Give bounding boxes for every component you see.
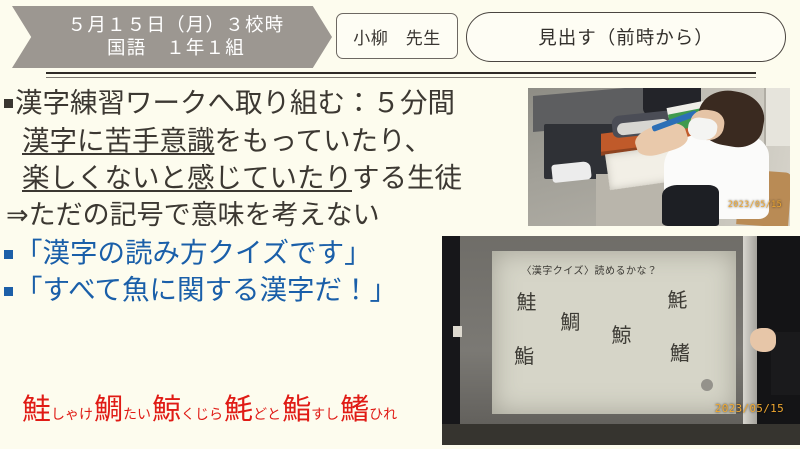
teacher-name-label: 小柳 先生	[353, 24, 441, 49]
fish-kanji-char: 魹	[224, 396, 253, 425]
fish-kanji-reading: しゃけ	[51, 407, 94, 421]
square-bullet-icon	[4, 250, 13, 259]
body-line-1: 漢字練習ワークへ取り組む：５分間	[4, 84, 449, 122]
fish-kanji-reading: すし	[311, 407, 340, 421]
fish-kanji-char: 鮭	[22, 396, 51, 425]
fish-kanji-item: 鰭 ひれ	[340, 396, 398, 425]
fish-kanji-reading: たい	[123, 407, 152, 421]
projected-kanji: 鰭	[670, 344, 690, 364]
square-bullet-icon	[4, 287, 13, 296]
classroom-photo-projected-screen: 〈漢字クイズ〉読めるかな？ 鮭 鯛 鯨 魹 鮨 鰭 2023/05/15	[442, 236, 800, 445]
fish-kanji-item: 鮨 すし	[282, 396, 340, 425]
fish-kanji-reading: くじら	[181, 407, 224, 421]
fish-kanji-reading: どと	[253, 407, 282, 421]
projected-kanji: 鮭	[516, 293, 536, 313]
projector-light-spot	[701, 379, 713, 391]
fish-kanji-item: 鮭 しゃけ	[22, 396, 94, 425]
projected-kanji: 鮨	[514, 347, 534, 367]
photo-date-stamp: 2023/05/15	[715, 402, 784, 415]
slide-header: ５月１５日（月）３校時 国語 １年１組 小柳 先生 見出す（前時から）	[0, 6, 800, 68]
body-line-6-text: 「すべて魚に関する漢字だ！」	[15, 272, 397, 309]
body-line-3-plain: する生徒	[352, 162, 462, 193]
body-line-2: 漢字に苦手意識をもっていたり、	[4, 122, 449, 160]
lesson-subject-line: 国語 １年１組	[107, 37, 245, 60]
photo-student-shorts	[662, 185, 720, 226]
divider-line-light	[46, 77, 756, 78]
projected-kanji: 鯛	[560, 313, 580, 333]
body-line-5: 「漢字の読み方クイズです」	[4, 235, 449, 272]
fish-kanji-item: 鯛 たい	[94, 396, 152, 425]
photo-shoe	[551, 161, 592, 183]
body-line-4-text: ⇒ただの記号で意味を考えない	[4, 197, 380, 235]
body-line-6: 「すべて魚に関する漢字だ！」	[4, 272, 449, 309]
slide-body-text: 漢字練習ワークへ取り組む：５分間 漢字に苦手意識をもっていたり、 楽しくないと感…	[4, 84, 449, 309]
fish-kanji-char: 鯛	[94, 396, 123, 425]
fish-kanji-char: 鯨	[152, 396, 181, 425]
body-line-2-plain: をもっていたり、	[215, 125, 433, 156]
body-line-1-text: 漢字練習ワークへ取り組む：５分間	[15, 84, 455, 122]
divider-line-dark	[46, 72, 756, 74]
square-bullet-icon	[4, 99, 13, 108]
fish-kanji-item: 鯨 くじら	[152, 396, 224, 425]
presentation-slide: ５月１５日（月）３校時 国語 １年１組 小柳 先生 見出す（前時から） 漢字練習…	[0, 0, 800, 449]
lesson-topic-pill: 見出す（前時から）	[466, 12, 786, 62]
projected-quiz-title: 〈漢字クイズ〉読めるかな？	[521, 262, 657, 277]
photo-floor-strip	[442, 424, 800, 445]
fish-kanji-row: 鮭 しゃけ 鯛 たい 鯨 くじら 魹 どと 鮨 すし 鰭 ひれ	[22, 396, 398, 425]
photo-teacher-hand	[750, 328, 776, 352]
photo-date-stamp: 2023/05/15	[728, 200, 782, 210]
classroom-photo-student-writing: 2023/05/15	[528, 88, 790, 226]
fish-kanji-char: 鮨	[282, 396, 311, 425]
fish-kanji-char: 鰭	[340, 396, 369, 425]
body-line-2-underlined: 漢字に苦手意識	[22, 125, 215, 156]
fish-kanji-item: 魹 どと	[224, 396, 282, 425]
fish-kanji-reading: ひれ	[369, 407, 398, 421]
body-line-3: 楽しくないと感じていたりする生徒	[4, 159, 449, 197]
body-line-4: ⇒ただの記号で意味を考えない	[4, 197, 449, 235]
photo-window	[764, 88, 790, 146]
projected-kanji: 鯨	[611, 326, 631, 346]
lesson-info-banner: ５月１５日（月）３校時 国語 １年１組	[12, 6, 332, 68]
body-line-5-text: 「漢字の読み方クイズです」	[15, 235, 372, 272]
header-divider	[46, 72, 756, 79]
teacher-name-box: 小柳 先生	[336, 13, 458, 59]
lesson-topic-label: 見出す（前時から）	[538, 24, 714, 50]
projected-slide-screen: 〈漢字クイズ〉読めるかな？ 鮭 鯛 鯨 魹 鮨 鰭	[492, 251, 735, 414]
photo-left-dark-edge	[442, 236, 460, 445]
body-line-3-underlined: 楽しくないと感じていたり	[22, 162, 352, 193]
projected-kanji: 魹	[667, 291, 687, 311]
photo-wall-switch	[453, 326, 462, 337]
lesson-date-line: ５月１５日（月）３校時	[68, 14, 285, 37]
